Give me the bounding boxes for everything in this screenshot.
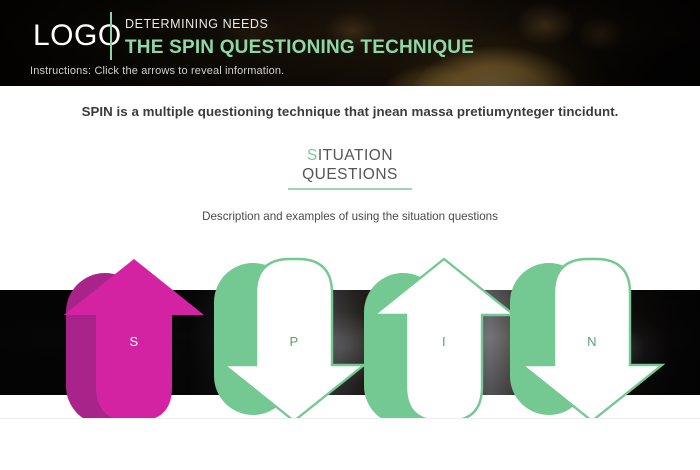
- slide-header: LOGO DETERMINING NEEDS THE SPIN QUESTION…: [0, 0, 700, 86]
- question-type-title: SITUATION QUESTIONS: [0, 146, 700, 184]
- arrow-label-s: S: [60, 334, 208, 349]
- arrow-item-n[interactable]: N: [518, 255, 666, 425]
- arrow-item-p[interactable]: P: [220, 255, 368, 425]
- arrow-label-p: P: [220, 334, 368, 349]
- header-kicker: DETERMINING NEEDS: [125, 18, 268, 31]
- header-divider: [110, 12, 112, 60]
- arrow-item-i[interactable]: I: [370, 255, 518, 425]
- question-title-line2: QUESTIONS: [302, 166, 398, 183]
- question-title-highlight: S: [307, 147, 318, 164]
- arrow-label-i: I: [370, 334, 518, 349]
- slide-root: LOGO DETERMINING NEEDS THE SPIN QUESTION…: [0, 0, 700, 470]
- lead-paragraph: SPIN is a multiple questioning technique…: [0, 104, 700, 119]
- question-title-rest: ITUATION: [318, 147, 393, 164]
- arrow-item-s[interactable]: S: [60, 255, 208, 425]
- player-toolbar: 25 /56: [0, 418, 700, 470]
- instructions-text: Instructions: Click the arrows to reveal…: [30, 66, 284, 77]
- page-title: THE SPIN QUESTIONING TECHNIQUE: [125, 38, 474, 57]
- spin-arrow-group: S P I N: [0, 255, 700, 425]
- question-description: Description and examples of using the si…: [0, 210, 700, 223]
- title-underline: [288, 188, 412, 190]
- arrow-label-n: N: [518, 334, 666, 349]
- logo: LOGO: [33, 21, 122, 51]
